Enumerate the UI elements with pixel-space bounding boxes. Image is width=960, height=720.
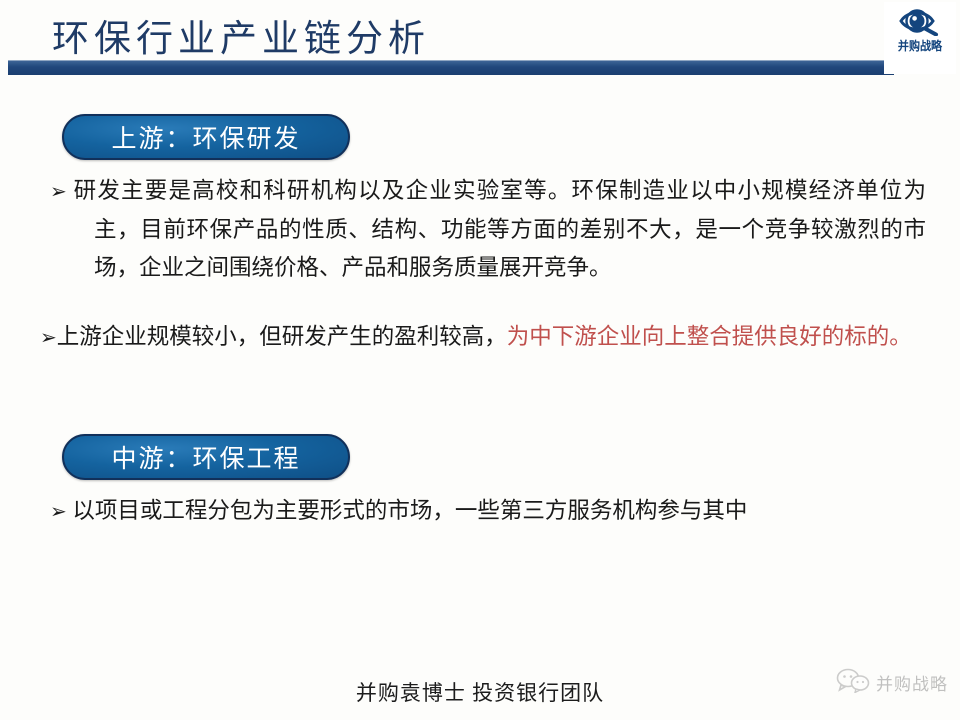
section-badge-upstream-label: 上游：环保研发: [111, 119, 300, 155]
paragraph-midstream-1: ➢ 以项目或工程分包为主要形式的市场，一些第三方服务机构参与其中: [50, 492, 926, 531]
paragraph-upstream-2-text-black: 上游企业规模较小，但研发产生的盈利较高，: [57, 324, 507, 349]
wechat-bubbles-icon: [836, 667, 870, 698]
page-title: 环保行业产业链分析: [52, 8, 430, 62]
slide-canvas: 环保行业产业链分析 并购战略 上游：环保研发 ➢ 研发主要是高校和科研机构以及企…: [0, 0, 960, 720]
section-badge-midstream-label: 中游：环保工程: [111, 439, 300, 475]
brand-logo-label: 并购战略: [898, 37, 942, 54]
paragraph-upstream-1: ➢ 研发主要是高校和科研机构以及企业实验室等。环保制造业以中小规模经济单位为主，…: [50, 172, 926, 287]
paragraph-upstream-2-text-highlight: 为中下游企业向上整合提供良好的标的。: [507, 324, 912, 349]
section-badge-midstream: 中游：环保工程: [62, 434, 350, 480]
bullet-marker: ➢: [50, 501, 67, 523]
footer-credit: 并购袁博士 投资银行团队: [0, 677, 960, 707]
paragraph-upstream-2: ➢上游企业规模较小，但研发产生的盈利较高，为中下游企业向上整合提供良好的标的。: [40, 318, 930, 357]
watermark: 并购战略: [836, 667, 948, 698]
eye-magnifier-icon: [898, 6, 942, 36]
title-divider-bar: [8, 60, 894, 75]
watermark-label: 并购战略: [876, 670, 948, 695]
paragraph-midstream-1-text: 以项目或工程分包为主要形式的市场，一些第三方服务机构参与其中: [72, 498, 747, 523]
brand-logo: 并购战略: [884, 2, 956, 74]
slide-header: 环保行业产业链分析: [0, 0, 960, 78]
bullet-marker: ➢: [40, 327, 57, 349]
section-badge-upstream: 上游：环保研发: [62, 114, 350, 160]
bullet-marker: ➢: [50, 181, 67, 203]
paragraph-upstream-1-text: 研发主要是高校和科研机构以及企业实验室等。环保制造业以中小规模经济单位为主，目前…: [74, 178, 926, 280]
